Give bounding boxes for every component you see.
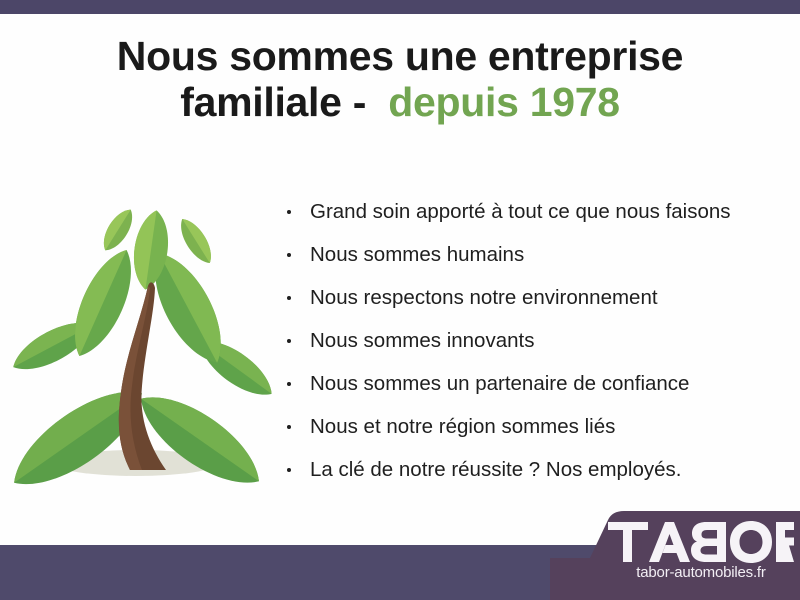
list-item-label: Grand soin apporté à tout ce que nous fa… [310,200,731,223]
page-title: Nous sommes une entreprise familiale - d… [0,34,800,126]
list-item: Nous respectons notre environnement [286,276,776,319]
value-proposition-list: Grand soin apporté à tout ce que nous fa… [286,190,776,491]
tabor-wordmark-icon [608,520,794,564]
bullet-dot-icon [287,253,291,257]
list-item-label: Nous et notre région sommes liés [310,415,615,438]
logo-url[interactable]: tabor-automobiles.fr [608,564,794,581]
bullet-dot-icon [287,210,291,214]
tree-icon [8,178,276,488]
bullet-dot-icon [287,339,291,343]
bullet-dot-icon [287,296,291,300]
top-accent-band [0,0,800,14]
title-line-2: familiale - depuis 1978 [0,80,800,126]
bullet-dot-icon [287,382,291,386]
logo-content: tabor-automobiles.fr [608,520,798,592]
slide: Nous sommes une entreprise familiale - d… [0,0,800,600]
list-item: Nous sommes innovants [286,319,776,362]
list-item: Nous sommes humains [286,233,776,276]
brand-logo[interactable]: tabor-automobiles.fr [550,508,800,600]
list-item: Nous et notre région sommes liés [286,405,776,448]
list-item: Grand soin apporté à tout ce que nous fa… [286,190,776,233]
bullet-dot-icon [287,425,291,429]
list-item: Nous sommes un partenaire de confiance [286,362,776,405]
leaf-top-small-left [97,204,139,255]
list-item-label: Nous sommes innovants [310,329,534,352]
list-item-label: Nous sommes humains [310,243,524,266]
list-item-label: La clé de notre réussite ? Nos employés. [310,458,681,481]
list-item: La clé de notre réussite ? Nos employés. [286,448,776,491]
list-item-label: Nous respectons notre environnement [310,286,658,309]
title-line-2-prefix: familiale - [180,79,366,125]
title-accent: depuis 1978 [388,79,619,125]
title-line-1: Nous sommes une entreprise [0,34,800,80]
leaf-top-small-right [174,214,218,268]
bullet-dot-icon [287,468,291,472]
list-item-label: Nous sommes un partenaire de confiance [310,372,689,395]
tree-illustration [8,178,276,488]
